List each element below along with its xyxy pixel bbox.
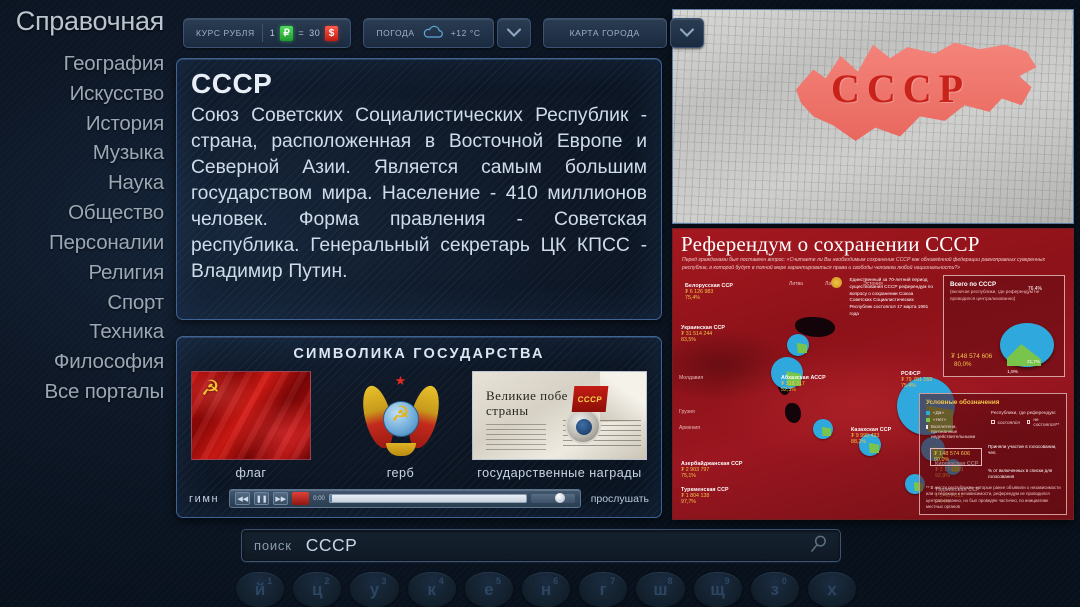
pie-chart-ukraine (787, 334, 809, 356)
city-map-dropdown-button[interactable] (670, 18, 704, 48)
ussr-map-photo[interactable]: СССР (672, 9, 1074, 224)
sidebar-item-6[interactable]: Общество (0, 198, 164, 228)
republic-label: Туркменская ССР₮ 1 804 13897,7% (681, 487, 729, 505)
legend-item-no: «Нет» (926, 417, 981, 422)
key-н[interactable]: н6 (522, 572, 570, 607)
symbol-emblem-caption: герб (387, 466, 415, 480)
legend-columns: «Да» «Нет» Бюллетени, признанные недейст… (926, 410, 1060, 441)
totals-slice-yes-pct: 76,4% (1028, 286, 1042, 292)
sidebar-item-11[interactable]: Философия (0, 347, 164, 377)
anthem-label: гимн (189, 493, 219, 505)
key-label: у (370, 580, 379, 600)
anthem-player: гимн ◀◀ ❚❚ ▶▶ 0:00 прослушать (187, 489, 651, 508)
legend-callout: ₮ 148 574 606 80,0% (930, 448, 982, 466)
key-superscript: 4 (439, 576, 444, 586)
key-superscript: 9 (725, 576, 730, 586)
totals-slice-invalid-pct: 1,9% (1007, 370, 1018, 375)
republic-label: Белорусская ССР₮ 6 126 98375,4% (685, 283, 733, 301)
red-star-icon: ★ (395, 374, 407, 387)
key-label: й (255, 580, 265, 600)
infographic-subtitle: Перед гражданами был поставлен вопрос: «… (682, 257, 1054, 272)
key-х[interactable]: х (808, 572, 856, 607)
weather-dropdown-button[interactable] (497, 18, 531, 48)
citymap-group: КАРТА ГОРОДА (543, 18, 704, 48)
ussr-map-label: СССР (831, 65, 970, 112)
key-superscript: 5 (496, 576, 501, 586)
republic-label: РСФСР₮ 79 701 16975,4% (901, 371, 932, 389)
pie-chart-azerbaijan (813, 419, 833, 439)
emblem-base (386, 443, 416, 456)
totals-votes: ₮ 148 574 606 (951, 353, 992, 360)
key-superscript: 7 (610, 576, 615, 586)
republic-pct: 88,2% (851, 439, 891, 445)
legend-swatch-held-icon (991, 420, 995, 424)
legend-item-invalid: Бюллетени, признанные недействительными (926, 424, 981, 439)
key-label: е (484, 580, 493, 600)
paper-lines-left (486, 424, 546, 450)
top-toolbar: КУРС РУБЛЯ 1 ₽ = 30 $ ПОГОДА +12 °C (183, 18, 704, 48)
totals-slice-no-pct: 21,7% (1027, 359, 1040, 364)
legend-swatch-green-icon (926, 418, 930, 422)
weather-temp: +12 °C (451, 28, 481, 38)
player-volume-slider[interactable] (531, 494, 575, 503)
currency-rate-value: 1 ₽ = 30 $ (270, 26, 339, 41)
listen-link[interactable]: прослушать (591, 493, 649, 505)
symbol-flag-caption: флаг (235, 466, 266, 480)
republic-pct: 75,1% (681, 473, 743, 479)
state-symbols-panel: СИМВОЛИКА ГОСУДАРСТВА ☭ флаг ☭ ★ ге (176, 336, 662, 518)
search-input[interactable]: СССР (306, 535, 795, 556)
republic-pct: 75,4% (901, 383, 932, 389)
legend-col-1: «Да» «Нет» Бюллетени, признанные недейст… (926, 410, 981, 441)
key-label: з (771, 580, 779, 600)
award-text-line2: страны (486, 403, 529, 419)
region-label-gruzia: Грузия (679, 409, 695, 415)
prev-button[interactable]: ◀◀ (235, 492, 250, 505)
on-screen-keyboard: й1ц2у3к4е5н6г7ш8щ9з0х (236, 572, 856, 607)
legend-item-no-label: «Нет» (933, 417, 946, 422)
key-к[interactable]: к4 (408, 572, 456, 607)
legend-notheld-label: не состоялся** (1033, 417, 1060, 427)
legend-item-yes: «Да» (926, 410, 981, 415)
award-ribbon: СССР (572, 386, 609, 412)
legend-annotation-turnout: Приняли участие в голосовании, чел. (988, 444, 1066, 457)
referendum-infographic[interactable]: Референдум о сохранении СССР Перед гражд… (672, 228, 1074, 520)
sidebar-item-7[interactable]: Персоналии (0, 228, 164, 258)
hammer-sickle-badge-icon (831, 277, 842, 288)
player-logo-icon (292, 492, 309, 505)
pause-button[interactable]: ❚❚ (254, 492, 269, 505)
legend-swatch-white-icon (926, 425, 928, 429)
weather-button[interactable]: ПОГОДА +12 °C (363, 18, 493, 48)
ruble-icon: ₽ (280, 26, 293, 41)
award-text-line1: Великие побе (486, 388, 568, 404)
key-label: ц (312, 580, 322, 600)
key-label: н (541, 580, 551, 600)
symbol-flag[interactable]: ☭ флаг (191, 371, 311, 480)
key-superscript: 1 (267, 576, 272, 586)
symbol-awards-caption: государственные награды (477, 466, 641, 480)
sidebar-nav: Справочная ГеографияИскусствоИсторияМузы… (0, 0, 176, 607)
referendum-note-text: Единственный за 70-летний период существ… (849, 277, 935, 318)
soviet-flag-icon: ☭ (191, 371, 311, 460)
next-button[interactable]: ▶▶ (273, 492, 288, 505)
symbol-awards[interactable]: Великие побе страны СССР государственные… (472, 371, 647, 480)
legend-footnote: ** В шести республиках, которые ранее об… (926, 485, 1062, 510)
city-map-label: КАРТА ГОРОДА (570, 28, 640, 38)
legend-held-label: состоялся (998, 420, 1020, 425)
player-seek-slider[interactable] (329, 494, 527, 503)
legend-item-yes-label: «Да» (933, 410, 944, 415)
key-superscript: 0 (782, 576, 787, 586)
reference-portal-app: Справочная ГеографияИскусствоИсторияМузы… (0, 0, 1080, 607)
legend-callout-pct: 80,0% (934, 457, 978, 463)
soviet-coat-of-arms-icon: ☭ ★ (355, 371, 447, 460)
legend-held: состоялся не состоялся** (991, 417, 1060, 427)
republic-pct: 52,3% (781, 387, 826, 393)
divider (262, 24, 263, 42)
key-ш[interactable]: ш8 (636, 572, 684, 607)
region-label-litva: Литва (789, 281, 803, 287)
region-label-moldavia: Молдавия (679, 375, 703, 381)
key-щ[interactable]: щ9 (694, 572, 742, 607)
rate-equals: = (298, 28, 304, 38)
region-label-armenia: Армения (679, 425, 700, 431)
legend-col2-title: Республики, где референдум: (991, 410, 1060, 415)
search-icon[interactable] (809, 534, 828, 558)
legend-heading: Условные обозначения (926, 399, 1060, 406)
article-title: СССР (191, 70, 647, 98)
currency-rate-label: КУРС РУБЛЯ (196, 28, 255, 38)
key-label: к (427, 580, 436, 600)
page-title: Справочная (0, 6, 164, 37)
key-label: г (600, 580, 607, 600)
key-superscript: 6 (553, 576, 558, 586)
republic-pct: 83,5% (681, 337, 725, 343)
key-label: х (827, 580, 836, 600)
legend-annotation-percent: % от включенных в списки для голосования (988, 468, 1066, 481)
sidebar-item-3[interactable]: История (0, 109, 164, 139)
republic-label: Абхазская АССР₮ 318 31752,3% (781, 375, 826, 393)
article-body: Союз Советских Социалистических Республи… (191, 103, 647, 285)
soviet-awards-icon: Великие побе страны СССР (472, 371, 647, 460)
republic-label: Украинская ССР₮ 31 514 24483,5% (681, 325, 725, 343)
totals-box: Всего по СССР (включая республики, где р… (943, 275, 1065, 377)
symbol-emblem[interactable]: ☭ ★ герб (355, 371, 447, 480)
map-blob (785, 403, 801, 423)
search-label: поиск (254, 538, 292, 553)
search-bar[interactable]: поиск СССР (241, 529, 841, 562)
weather-group: ПОГОДА +12 °C (363, 18, 530, 48)
key-е[interactable]: е5 (465, 572, 513, 607)
key-ц[interactable]: ц2 (293, 572, 341, 607)
sidebar-item-8[interactable]: Религия (0, 258, 164, 288)
key-label: ш (653, 580, 667, 600)
infographic-legend: Условные обозначения «Да» «Нет» Бюллетен… (919, 393, 1067, 515)
key-з[interactable]: з0 (751, 572, 799, 607)
article-panel: СССР Союз Советских Социалистических Рес… (176, 58, 662, 320)
key-superscript: 3 (382, 576, 387, 586)
republic-pct: 97,7% (681, 499, 729, 505)
symbols-heading: СИМВОЛИКА ГОСУДАРСТВА (187, 346, 651, 362)
key-у[interactable]: у3 (350, 572, 398, 607)
republic-pct: 75,4% (685, 295, 733, 301)
sidebar-item-4[interactable]: Музыка (0, 138, 164, 168)
rate-value: 30 (309, 28, 320, 38)
sidebar-item-1[interactable]: География (0, 49, 164, 79)
legend-item-invalid-label: Бюллетени, признанные недействительными (931, 424, 981, 439)
republic-label: Казахская ССР₮ 9 999 43388,2% (851, 427, 891, 445)
sidebar-item-9[interactable]: Спорт (0, 288, 164, 318)
legend-col-2: Республики, где референдум: состоялся не… (991, 410, 1060, 441)
chevron-down-icon (507, 24, 521, 42)
sidebar-list: ГеографияИскусствоИсторияМузыкаНаукаОбще… (0, 49, 164, 407)
dollar-icon: $ (325, 26, 338, 41)
hammer-and-sickle-icon: ☭ (391, 404, 410, 425)
cloud-icon (422, 25, 444, 41)
key-label: щ (710, 580, 724, 600)
player-time: 0:00 (313, 496, 325, 502)
republic-label: Азербайджанская ССР₮ 2 903 79775,1% (681, 461, 743, 479)
symbols-row: ☭ флаг ☭ ★ герб Великие побе (187, 371, 651, 480)
legend-swatch-notheld-icon (1027, 420, 1031, 424)
city-map-button[interactable]: КАРТА ГОРОДА (543, 18, 667, 48)
key-superscript: 2 (324, 576, 329, 586)
hammer-and-sickle-icon: ☭ (201, 378, 220, 399)
player-controls: ◀◀ ❚❚ ▶▶ 0:00 (229, 489, 580, 508)
sidebar-item-10[interactable]: Техника (0, 317, 164, 347)
key-й[interactable]: й1 (236, 572, 284, 607)
rate-amount: 1 (270, 28, 276, 38)
sidebar-item-5[interactable]: Наука (0, 168, 164, 198)
referendum-note: Единственный за 70-летний период существ… (831, 277, 937, 318)
totals-votes-value: 148 574 606 (957, 353, 993, 360)
key-г[interactable]: г7 (579, 572, 627, 607)
currency-rate-button[interactable]: КУРС РУБЛЯ 1 ₽ = 30 $ (183, 18, 351, 48)
medal-icon (565, 408, 601, 444)
key-superscript: 8 (667, 576, 672, 586)
totals-pct: 80,0% (954, 361, 972, 368)
infographic-title: Референдум о сохранении СССР (681, 232, 980, 257)
sidebar-item-2[interactable]: Искусство (0, 79, 164, 109)
chevron-down-icon (680, 24, 694, 42)
sidebar-item-12[interactable]: Все порталы (0, 377, 164, 407)
legend-swatch-blue-icon (926, 411, 930, 415)
weather-label: ПОГОДА (376, 28, 414, 38)
